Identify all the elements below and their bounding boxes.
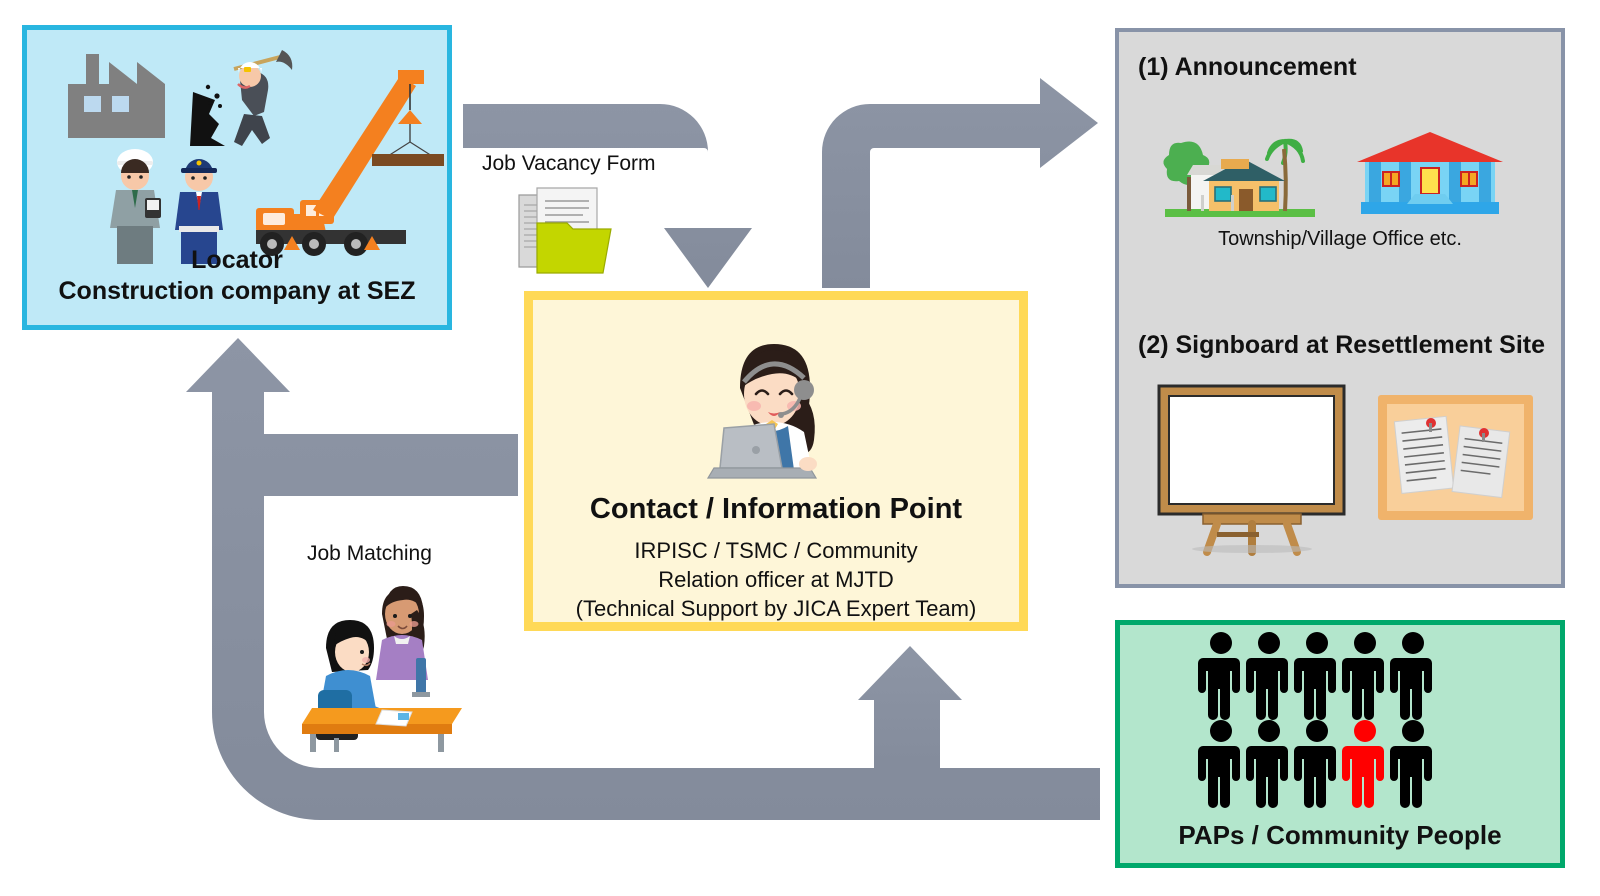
announcement-heading: (1) Announcement — [1138, 53, 1357, 82]
locator-label: Locator Construction company at SEZ — [22, 245, 452, 306]
contact-point-title: Contact / Information Point — [524, 492, 1028, 527]
arrow-paps-to-contact — [858, 646, 1100, 776]
document-folder-icon — [515, 185, 617, 277]
corkboard-notices-icon — [1378, 395, 1533, 520]
people-group-icon — [1205, 632, 1455, 812]
locator-label-line1: Locator — [22, 245, 452, 276]
village-house-icon — [1165, 135, 1315, 220]
job-interview-icon — [286, 580, 466, 752]
contact-sub-line3: (Technical Support by JICA Expert Team) — [524, 594, 1028, 623]
interviewer-person — [376, 586, 430, 697]
contact-sub-line2: Relation officer at MJTD — [524, 565, 1028, 594]
miner-worker-icon — [190, 50, 292, 146]
call-center-operator-icon — [710, 336, 842, 484]
whiteboard-easel-icon — [1155, 382, 1350, 552]
township-office-caption: Township/Village Office etc. — [1150, 228, 1530, 251]
township-office-icon — [1355, 130, 1505, 220]
highlighted-person — [1342, 720, 1384, 808]
paps-label: PAPs / Community People — [1115, 820, 1565, 852]
job-vacancy-form-label: Job Vacancy Form — [482, 152, 656, 176]
contact-point-subtitle: IRPISC / TSMC / Community Relation offic… — [524, 536, 1028, 623]
job-matching-label: Job Matching — [307, 542, 432, 566]
locator-label-line2: Construction company at SEZ — [22, 276, 452, 307]
factory-icon — [68, 54, 165, 138]
signboard-heading: (2) Signboard at Resettlement Site — [1138, 331, 1545, 360]
arrow-contact-to-announcement — [822, 78, 1098, 288]
contact-sub-line1: IRPISC / TSMC / Community — [524, 536, 1028, 565]
locator-illustrations — [60, 40, 445, 245]
mobile-crane-icon — [256, 70, 444, 256]
